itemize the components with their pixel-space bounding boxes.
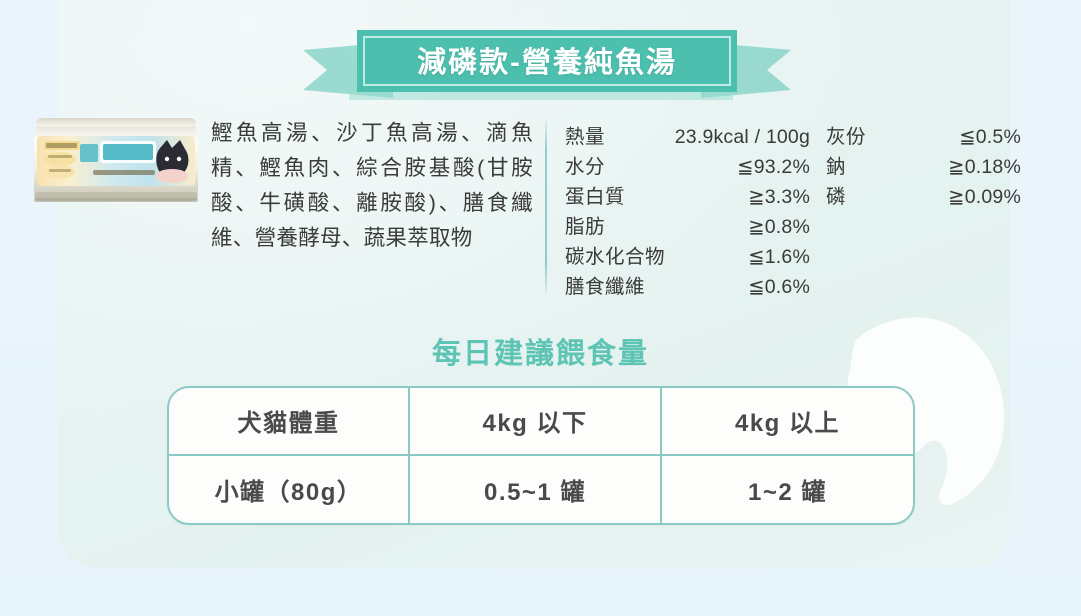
product-can-image [30,114,202,210]
nutrition-value: ≦0.5% [959,125,1021,149]
table-header-cell: 4kg 以下 [410,388,662,454]
ingredients-text: 鰹魚高湯、沙丁魚高湯、滴魚精、鰹魚肉、綜合胺基酸(甘胺酸、牛磺酸、離胺酸)、膳食… [211,116,533,256]
vertical-divider [545,120,547,294]
nutrition-row: 脂肪 ≧0.8% [565,210,810,240]
nutrition-label: 蛋白質 [565,180,625,209]
nutrition-value: ≧3.3% [748,185,810,209]
nutrition-row: 磷 ≧0.09% [826,180,1021,210]
nutrition-row: 灰份 ≦0.5% [826,120,1021,150]
nutrition-row: 鈉 ≧0.18% [826,150,1021,180]
table-row: 小罐（80g） 0.5~1 罐 1~2 罐 [169,456,913,524]
nutrition-value: 23.9kcal / 100g [675,126,810,149]
nutrition-value: ≧0.09% [948,185,1021,209]
nutrition-value: ≧0.18% [948,155,1021,179]
nutrition-label: 熱量 [565,120,605,149]
nutrition-label: 磷 [826,180,846,209]
nutrition-label: 碳水化合物 [565,240,665,269]
feeding-guide-table: 犬貓體重 4kg 以下 4kg 以上 小罐（80g） 0.5~1 罐 1~2 罐 [167,386,915,525]
product-info-page: 減磷款-營養純魚湯 [0,0,1081,616]
nutrition-value: ≧0.8% [748,215,810,239]
nutrition-label: 脂肪 [565,210,605,239]
title-ribbon: 減磷款-營養純魚湯 [297,22,797,100]
nutrition-label: 鈉 [826,150,846,179]
table-header-cell: 犬貓體重 [169,388,410,454]
table-cell: 1~2 罐 [662,456,913,524]
nutrition-row: 熱量 23.9kcal / 100g [565,120,810,150]
nutrition-value: ≦93.2% [737,155,810,179]
table-header-row: 犬貓體重 4kg 以下 4kg 以上 [169,388,913,456]
nutrition-label: 灰份 [826,120,866,149]
table-header-cell: 4kg 以上 [662,388,913,454]
nutrition-label: 膳食纖維 [565,270,645,299]
nutrition-value: ≦0.6% [748,275,810,299]
page-title: 減磷款-營養純魚湯 [297,22,797,100]
nutrition-value: ≦1.6% [748,245,810,269]
nutrition-row: 膳食纖維 ≦0.6% [565,270,810,300]
table-cell: 0.5~1 罐 [410,456,662,524]
nutrition-label: 水分 [565,150,605,179]
nutrition-row: 碳水化合物 ≦1.6% [565,240,810,270]
nutrition-row: 蛋白質 ≧3.3% [565,180,810,210]
nutrition-row: 水分 ≦93.2% [565,150,810,180]
table-cell: 小罐（80g） [169,456,410,524]
feeding-guide-heading: 每日建議餵食量 [0,330,1081,372]
nutrition-column-right: 灰份 ≦0.5% 鈉 ≧0.18% 磷 ≧0.09% [826,120,1021,210]
nutrition-column-left: 熱量 23.9kcal / 100g 水分 ≦93.2% 蛋白質 ≧3.3% 脂… [565,120,810,300]
